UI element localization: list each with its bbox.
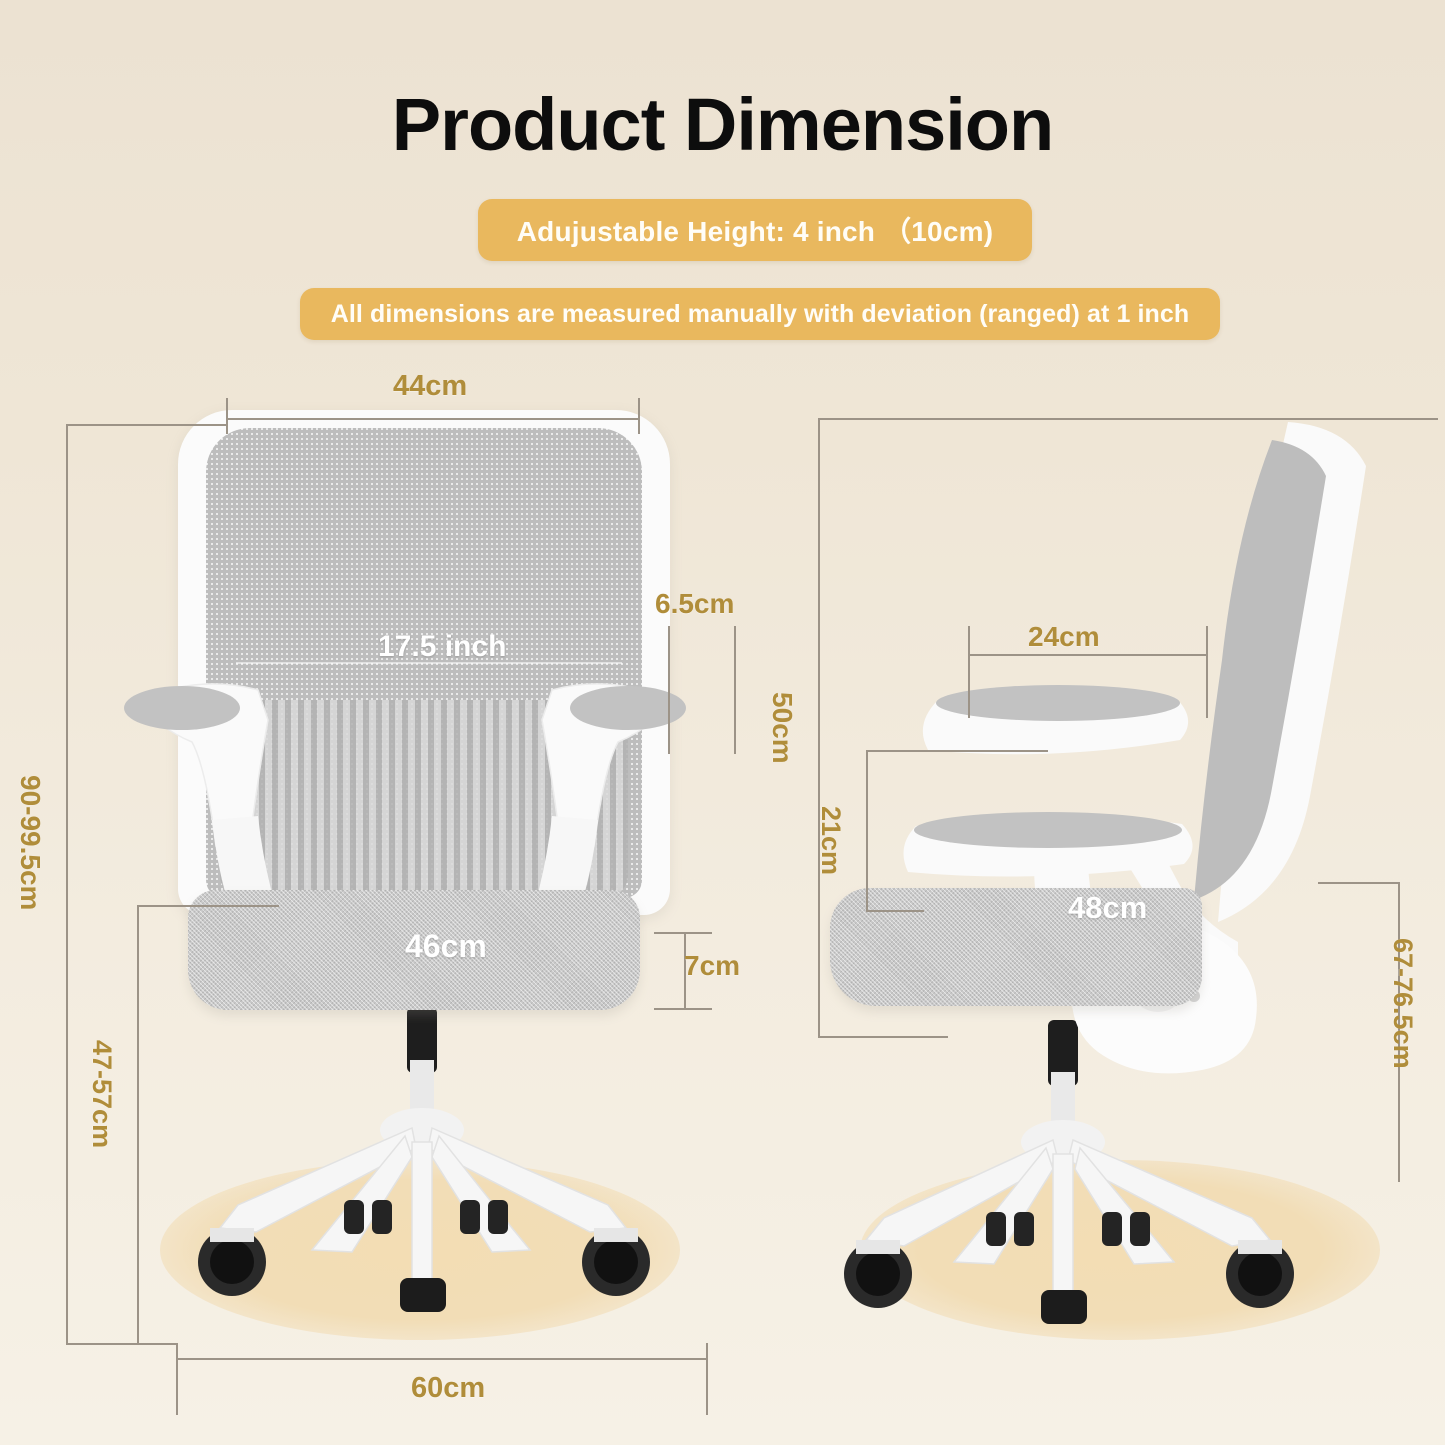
dim-44cm-tick-left bbox=[226, 398, 228, 434]
dim-7cm-top-tick bbox=[654, 932, 712, 934]
badge-deviation-note: All dimensions are measured manually wit… bbox=[300, 288, 1220, 340]
dim-90-995cm-bottom-tick bbox=[66, 1343, 176, 1345]
infographic-canvas: Product Dimension Adujustable Height: 4 … bbox=[0, 0, 1445, 1445]
badge-adjustable-height: Adujustable Height: 4 inch （10cm) bbox=[478, 199, 1032, 261]
dim-90-995cm-label: 90-99.5cm bbox=[14, 775, 46, 910]
dim-50cm-label: 50cm bbox=[766, 692, 798, 764]
front-view-chair bbox=[60, 400, 750, 1350]
dim-47-57cm-line bbox=[137, 905, 139, 1343]
dim-65cm-label: 6.5cm bbox=[655, 588, 734, 620]
dim-21cm-label: 21cm bbox=[815, 806, 846, 875]
dim-60cm-line bbox=[176, 1358, 708, 1360]
side-view-chair bbox=[820, 400, 1430, 1350]
dim-47-57cm-label: 47-57cm bbox=[86, 1040, 117, 1148]
dim-67-765cm-top-tick bbox=[1318, 882, 1400, 884]
armrests-front-svg bbox=[60, 400, 750, 1350]
dim-50cm-line bbox=[818, 418, 820, 1038]
dim-50cm-top-tick bbox=[818, 418, 1438, 420]
dim-21cm-line bbox=[866, 750, 868, 912]
dim-90-995cm-top-tick bbox=[66, 424, 226, 426]
dim-7cm-label: 7cm bbox=[684, 950, 740, 982]
dim-60cm-tick-left bbox=[176, 1343, 178, 1415]
badge-adjustable-height-label: Adujustable Height: 4 inch （10cm) bbox=[517, 210, 993, 250]
tilt-mechanism-svg bbox=[820, 400, 1430, 1350]
dim-44cm-label: 44cm bbox=[393, 370, 467, 403]
dim-50cm-bottom-tick bbox=[818, 1036, 948, 1038]
dim-65cm-tick-right bbox=[734, 626, 736, 754]
dim-7cm-bottom-tick bbox=[654, 1008, 712, 1010]
dim-24cm-line bbox=[968, 654, 1208, 656]
dim-65cm-tick-left bbox=[668, 626, 670, 754]
page-title: Product Dimension bbox=[0, 82, 1445, 167]
dim-47-57cm-top-tick bbox=[137, 905, 279, 907]
dim-46cm-label: 46cm bbox=[405, 928, 487, 965]
dim-21cm-bottom-tick bbox=[866, 910, 924, 912]
dim-60cm-tick-right bbox=[706, 1343, 708, 1415]
dim-175inch-label: 17.5 inch bbox=[378, 630, 506, 664]
dim-44cm-line bbox=[226, 418, 640, 420]
dim-67-765cm-label: 67-76.5cm bbox=[1387, 938, 1418, 1069]
dim-24cm-tick-left bbox=[968, 626, 970, 718]
dim-90-995cm-line bbox=[66, 424, 68, 1344]
dim-24cm-label: 24cm bbox=[1028, 621, 1100, 653]
badge-deviation-note-label: All dimensions are measured manually wit… bbox=[331, 300, 1190, 329]
dim-48cm-label: 48cm bbox=[1068, 890, 1147, 926]
dim-24cm-tick-right bbox=[1206, 626, 1208, 718]
dim-44cm-tick-right bbox=[638, 398, 640, 434]
dim-60cm-label: 60cm bbox=[411, 1372, 485, 1405]
dim-21cm-top-tick bbox=[866, 750, 1048, 752]
